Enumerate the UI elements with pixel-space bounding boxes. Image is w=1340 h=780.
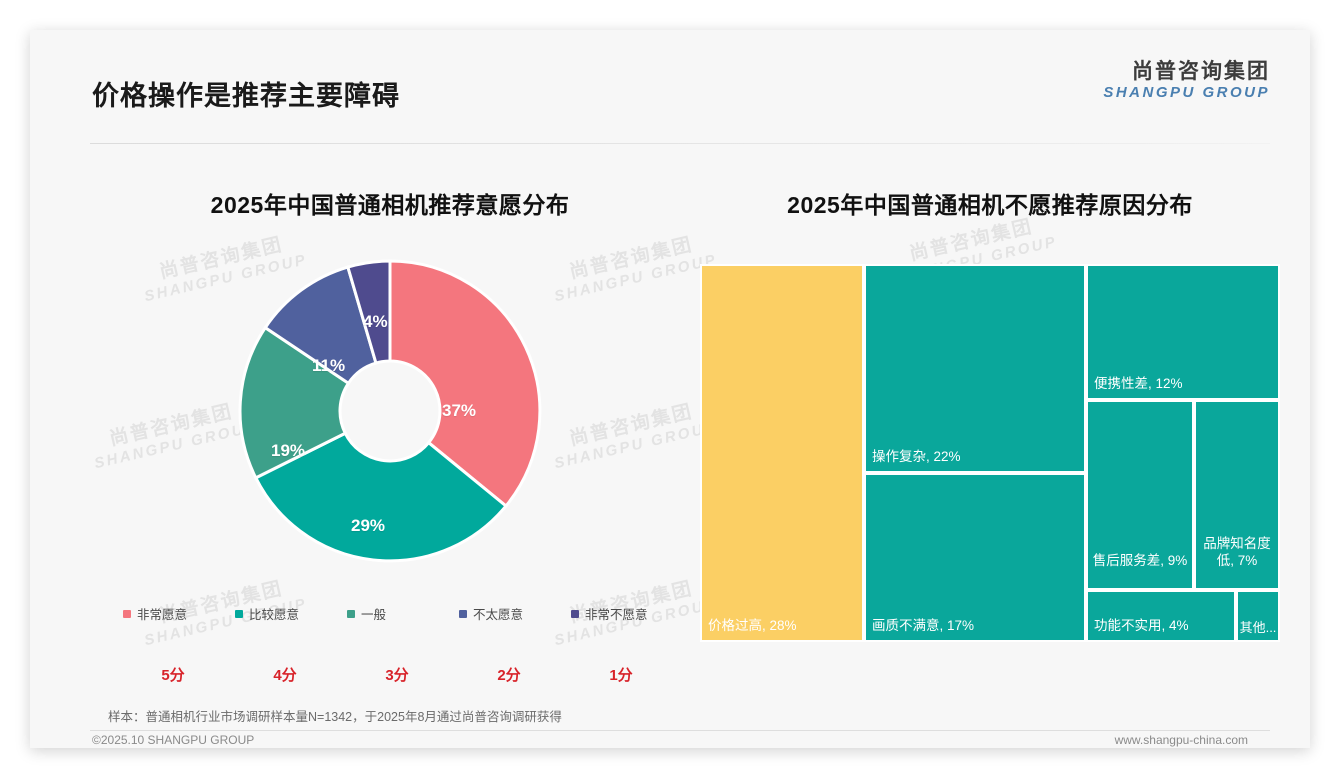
- legend-item-0[interactable]: 非常愿意: [123, 604, 209, 623]
- brand-logo: 尚普咨询集团 SHANGPU GROUP: [1103, 60, 1270, 101]
- legend-item-3[interactable]: 不太愿意: [459, 604, 545, 623]
- legend-label-3: 不太愿意: [473, 604, 523, 623]
- legend-item-1[interactable]: 比较愿意: [235, 604, 321, 623]
- slide-footer: ©2025.10 SHANGPU GROUP www.shangpu-china…: [30, 733, 1310, 748]
- slide-header: 价格操作是推荐主要障碍 尚普咨询集团 SHANGPU GROUP: [30, 30, 1310, 111]
- treemap-cell-other[interactable]: 其他...: [1236, 590, 1280, 642]
- treemap-label-brand-awareness: 品牌知名度低, 7%: [1196, 536, 1278, 570]
- treemap-label-portability: 便携性差, 12%: [1094, 376, 1274, 393]
- sample-footnote: 样本：普通相机行业市场调研样本量N=1342，于2025年8月通过尚普咨询调研获…: [108, 706, 562, 725]
- legend-swatch-icon: [347, 610, 355, 618]
- treemap-chart: 价格过高, 28% 操作复杂, 22% 画质不满意, 17% 便携性差, 12%…: [700, 264, 1280, 642]
- legend-label-2: 一般: [361, 604, 386, 623]
- treemap-cell-portability[interactable]: 便携性差, 12%: [1086, 264, 1280, 400]
- treemap-label-complex-operation: 操作复杂, 22%: [872, 449, 1080, 466]
- donut-chart: 37% 29% 19% 11% 4%: [210, 246, 570, 576]
- footer-divider: [90, 730, 1270, 731]
- footer-website[interactable]: www.shangpu-china.com: [1115, 733, 1248, 747]
- right-chart-title: 2025年中国普通相机不愿推荐原因分布: [700, 186, 1280, 220]
- legend-item-2[interactable]: 一般: [347, 604, 433, 623]
- donut-value-4: 4%: [363, 312, 388, 332]
- treemap-label-after-sales: 售后服务差, 9%: [1088, 553, 1192, 570]
- legend-swatch-icon: [571, 610, 579, 618]
- footer-copyright: ©2025.10 SHANGPU GROUP: [92, 733, 254, 747]
- legend-swatch-icon: [235, 610, 243, 618]
- treemap-label-other: 其他...: [1238, 620, 1278, 636]
- legend-swatch-icon: [459, 610, 467, 618]
- legend-label-0: 非常愿意: [137, 604, 187, 623]
- score-3: 2分: [459, 664, 545, 685]
- treemap-label-image-quality: 画质不满意, 17%: [872, 618, 1080, 635]
- treemap-cell-complex-operation[interactable]: 操作复杂, 22%: [864, 264, 1086, 473]
- treemap-cell-brand-awareness[interactable]: 品牌知名度低, 7%: [1194, 400, 1280, 590]
- legend-label-4: 非常不愿意: [585, 604, 648, 623]
- donut-value-2: 19%: [271, 441, 305, 461]
- treemap-cell-image-quality[interactable]: 画质不满意, 17%: [864, 473, 1086, 642]
- treemap-cell-impractical-features[interactable]: 功能不实用, 4%: [1086, 590, 1236, 642]
- treemap-cell-price[interactable]: 价格过高, 28%: [700, 264, 864, 642]
- right-chart-panel: 2025年中国普通相机不愿推荐原因分布 价格过高, 28% 操作复杂, 22% …: [700, 186, 1280, 696]
- legend-label-1: 比较愿意: [249, 604, 299, 623]
- score-row: 5分 4分 3分 2分 1分: [90, 664, 690, 685]
- legend-item-4[interactable]: 非常不愿意: [571, 604, 657, 623]
- donut-value-3: 11%: [312, 356, 345, 376]
- legend-swatch-icon: [123, 610, 131, 618]
- logo-text-en: SHANGPU GROUP: [1103, 84, 1270, 101]
- treemap-label-price: 价格过高, 28%: [708, 618, 858, 635]
- donut-svg: [210, 246, 570, 576]
- score-1: 4分: [235, 664, 321, 685]
- left-chart-title: 2025年中国普通相机推荐意愿分布: [90, 186, 690, 220]
- score-2: 3分: [347, 664, 433, 685]
- score-4: 1分: [571, 664, 657, 685]
- donut-value-1: 29%: [351, 516, 385, 536]
- left-chart-panel: 2025年中国普通相机推荐意愿分布 37% 29% 19%: [90, 186, 690, 696]
- logo-text-cn: 尚普咨询集团: [1103, 60, 1270, 84]
- donut-value-0: 37%: [442, 401, 476, 421]
- treemap-cell-after-sales[interactable]: 售后服务差, 9%: [1086, 400, 1194, 590]
- page-title: 价格操作是推荐主要障碍: [92, 74, 400, 113]
- title-divider: [90, 143, 1270, 144]
- slide-canvas: 尚普咨询集团 SHANGPU GROUP 尚普咨询集团 SHANGPU GROU…: [30, 30, 1310, 748]
- treemap-label-impractical-features: 功能不实用, 4%: [1094, 618, 1230, 635]
- score-0: 5分: [123, 664, 209, 685]
- donut-legend: 非常愿意 比较愿意 一般 不太愿意 非常不愿意: [90, 604, 690, 623]
